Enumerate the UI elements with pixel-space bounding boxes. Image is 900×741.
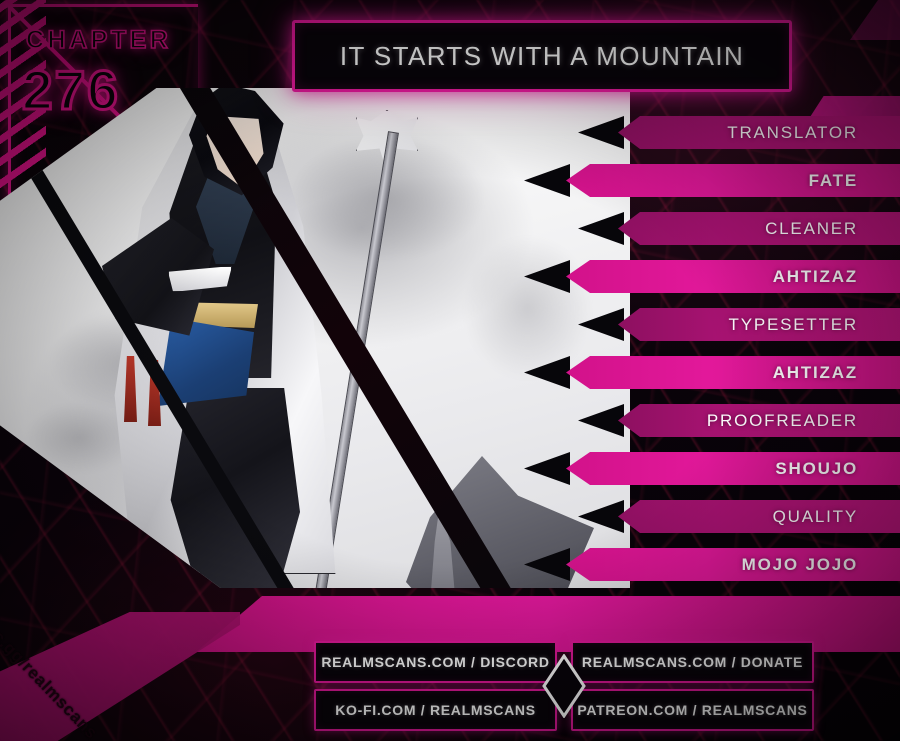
background-vignette <box>0 0 900 741</box>
credits-page: CHAPTER 276 IT STARTS WITH A MOUNTAIN TR… <box>0 0 900 741</box>
